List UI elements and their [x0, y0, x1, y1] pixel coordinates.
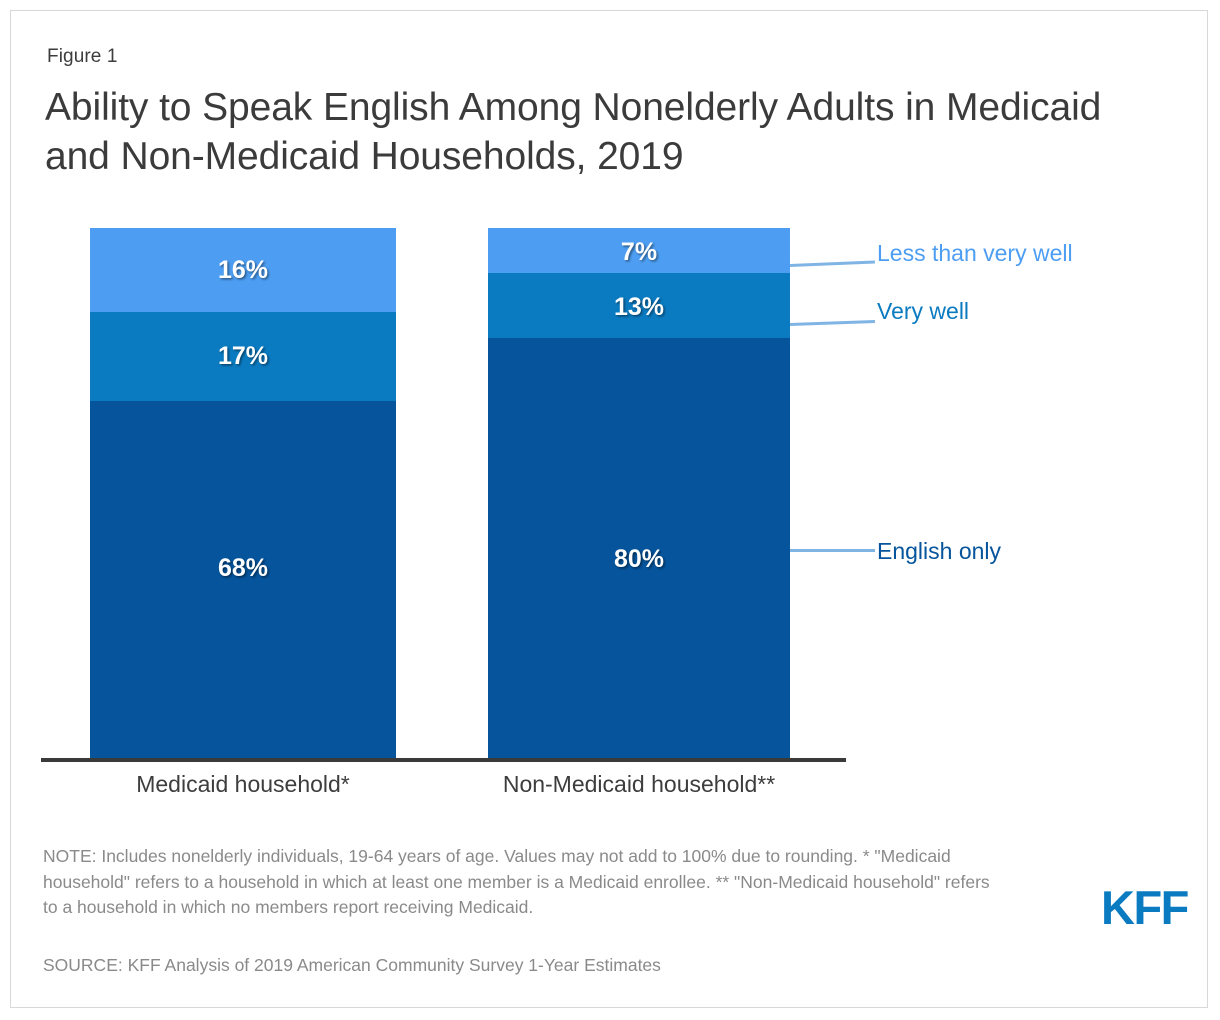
segment-english-only-medicaid[interactable]: 68%: [90, 401, 396, 758]
segment-less-than-very-well-non-medicaid[interactable]: 7%: [488, 228, 790, 273]
value-label-very-well-non-medicaid: 13%: [488, 295, 790, 320]
segment-very-well-medicaid[interactable]: 17%: [90, 312, 396, 401]
legend-label-very-well[interactable]: Very well: [877, 300, 969, 323]
bar-non-medicaid-household[interactable]: 7% 13% 80%: [488, 228, 790, 758]
chart-note: NOTE: Includes nonelderly individuals, 1…: [43, 844, 1003, 921]
value-label-english-only-medicaid: 68%: [90, 556, 396, 581]
segment-less-than-very-well-medicaid[interactable]: 16%: [90, 228, 396, 312]
value-label-less-than-very-well-medicaid: 16%: [90, 258, 396, 283]
kff-logo: KFF: [1101, 880, 1188, 935]
bar-medicaid-household[interactable]: 16% 17% 68%: [90, 228, 396, 758]
legend-label-english-only[interactable]: English only: [877, 540, 1001, 563]
chart-source: SOURCE: KFF Analysis of 2019 American Co…: [43, 953, 661, 979]
segment-english-only-non-medicaid[interactable]: 80%: [488, 338, 790, 758]
x-axis-line: [41, 758, 846, 762]
value-label-very-well-medicaid: 17%: [90, 344, 396, 369]
value-label-english-only-non-medicaid: 80%: [488, 547, 790, 572]
segment-very-well-non-medicaid[interactable]: 13%: [488, 273, 790, 338]
legend-label-less-than-very-well[interactable]: Less than very well: [877, 242, 1073, 265]
x-axis-label-medicaid-household: Medicaid household*: [90, 771, 396, 798]
x-axis-label-non-medicaid-household: Non-Medicaid household**: [488, 771, 790, 798]
value-label-less-than-very-well-non-medicaid: 7%: [488, 240, 790, 265]
callout-line-very-well: [790, 320, 875, 326]
figure-frame: Figure 1 Ability to Speak English Among …: [10, 10, 1208, 1008]
callout-line-less-than-very-well: [790, 260, 875, 267]
callout-line-english-only: [790, 549, 875, 552]
